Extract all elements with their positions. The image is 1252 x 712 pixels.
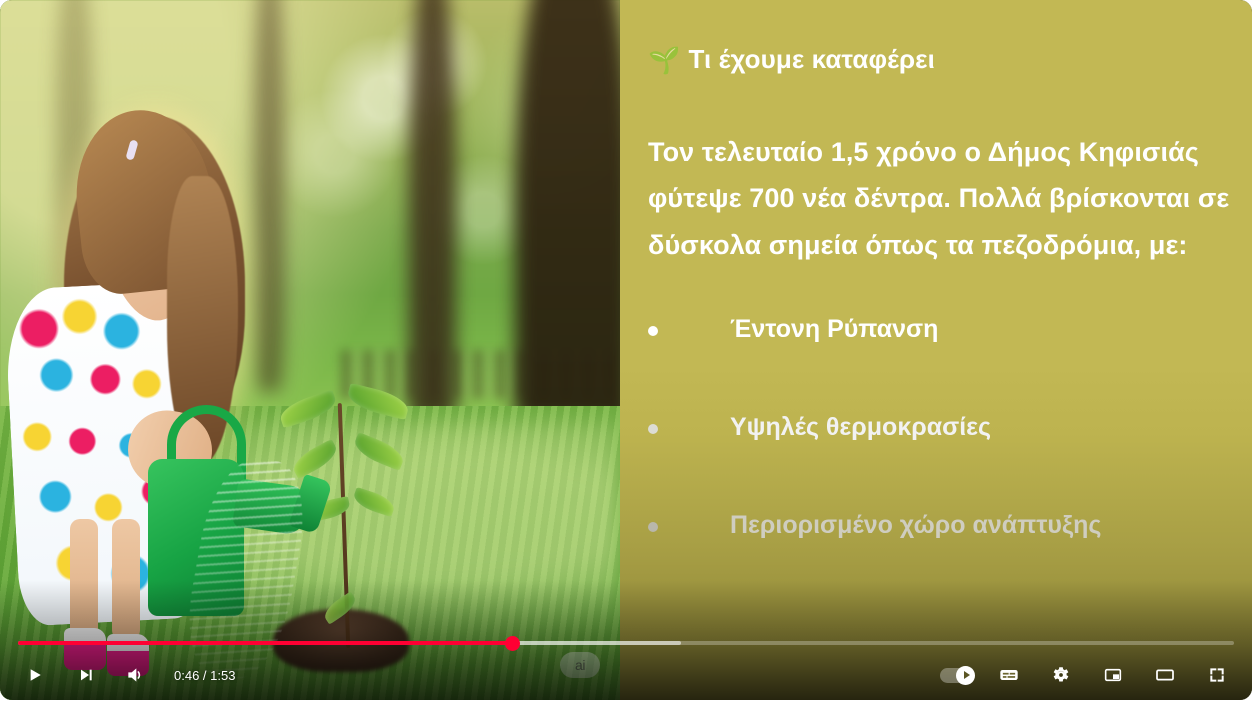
progress-track[interactable] [18,641,1234,645]
list-item: Περιορισμένο χώρο ανάπτυξης [648,510,1238,540]
bullet-dot-icon [648,522,658,532]
slide-title-text: Τι έχουμε καταφέρει [688,44,934,75]
slide-title-row: 🌱 Τι έχουμε καταφέρει [648,44,1238,75]
seedling-icon: 🌱 [648,47,680,73]
leg [70,519,97,639]
play-button[interactable] [14,654,56,696]
bullet-dot-icon [648,424,658,434]
autoplay-toggle[interactable] [936,654,978,696]
time-display: 0:46 / 1:53 [174,668,235,683]
video-photo [0,0,620,700]
autoplay-knob-icon [956,666,975,685]
bullet-label: Περιορισμένο χώρο ανάπτυξης [730,510,1101,540]
video-player[interactable]: 🌱 Τι έχουμε καταφέρει Τον τελευταίο 1,5 … [0,0,1252,712]
slide-bullet-list: Έντονη Ρύπανση Υψηλές θερμοκρασίες Περιο… [648,314,1238,540]
bullet-dot-icon [648,326,658,336]
video-surface[interactable]: 🌱 Τι έχουμε καταφέρει Τον τελευταίο 1,5 … [0,0,1252,700]
player-control-bar: 0:46 / 1:53 [0,650,1252,700]
settings-button[interactable] [1040,654,1082,696]
bullet-label: Έντονη Ρύπανση [730,314,938,344]
progress-played [18,641,512,645]
leg [112,519,139,639]
progress-scrubber-handle[interactable] [505,636,520,651]
bullet-label: Υψηλές θερμοκρασίες [730,412,991,442]
theater-button[interactable] [1144,654,1186,696]
volume-button[interactable] [114,654,156,696]
right-controls [936,654,1238,696]
girl-figure [12,98,334,700]
miniplayer-button[interactable] [1092,654,1134,696]
left-controls: 0:46 / 1:53 [14,654,243,696]
slide-body-text: Τον τελευταίο 1,5 χρόνο ο Δήμος Κηφισιάς… [648,129,1234,268]
list-item: Υψηλές θερμοκρασίες [648,412,1238,442]
progress-bar[interactable] [18,636,1234,650]
list-item: Έντονη Ρύπανση [648,314,1238,344]
next-button[interactable] [64,654,106,696]
subtitles-button[interactable] [988,654,1030,696]
presentation-slide: 🌱 Τι έχουμε καταφέρει Τον τελευταίο 1,5 … [620,0,1252,700]
fullscreen-button[interactable] [1196,654,1238,696]
